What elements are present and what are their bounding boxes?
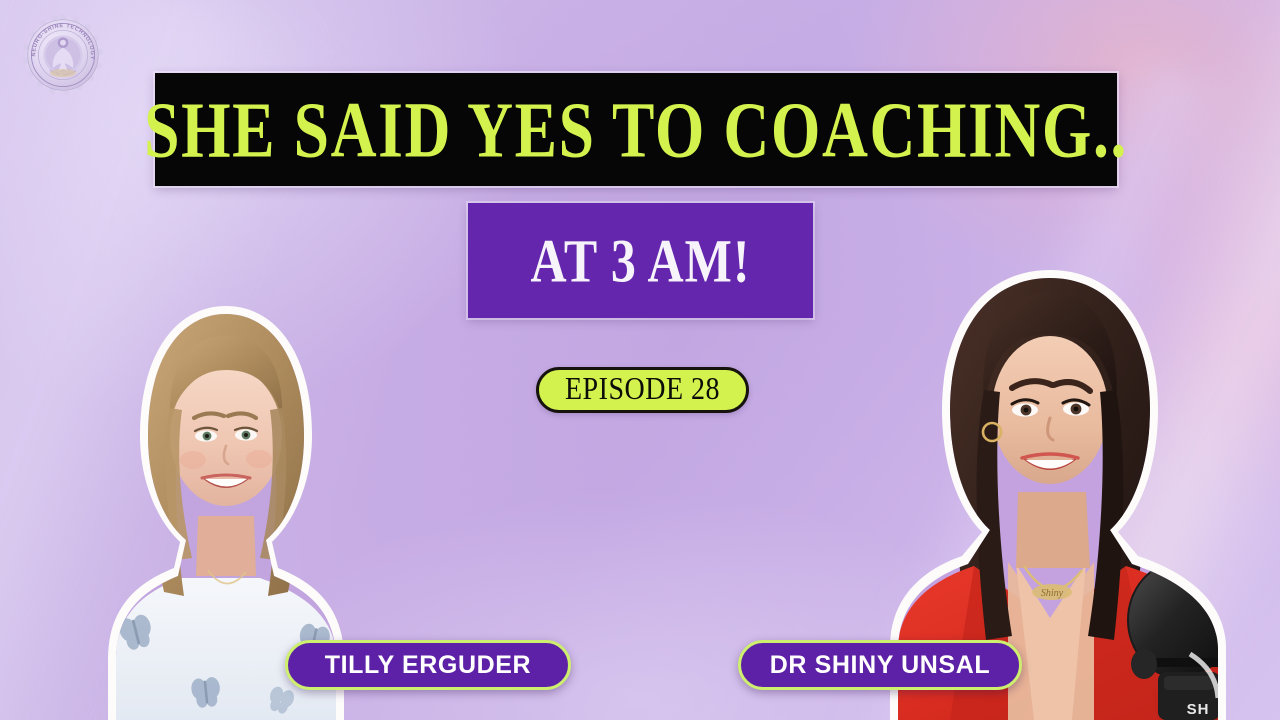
guest-name-right: DR SHINY UNSAL (770, 653, 990, 678)
title-banner: SHE SAID YES TO COACHING.. (155, 73, 1117, 186)
thumbnail-canvas: NEURO-SHINE TECHNOLOGY SHINY UNSAL (0, 0, 1280, 720)
guest-name-badge-left: TILLY ERGUDER (285, 640, 571, 690)
subtitle-banner: AT 3 AM! (468, 203, 813, 318)
guest-name-badge-right: DR SHINY UNSAL (738, 640, 1022, 690)
page-title: SHE SAID YES TO COACHING.. (144, 90, 1128, 169)
episode-label: EPISODE 28 (565, 374, 720, 405)
subtitle-text: AT 3 AM! (530, 230, 750, 291)
episode-badge: EPISODE 28 (536, 367, 749, 413)
svg-text:SH: SH (1187, 701, 1210, 718)
svg-text:Shiny: Shiny (1041, 588, 1064, 599)
guest-name-left: TILLY ERGUDER (325, 653, 531, 678)
neuro-shine-seal-icon: NEURO-SHINE TECHNOLOGY SHINY UNSAL (22, 14, 104, 96)
